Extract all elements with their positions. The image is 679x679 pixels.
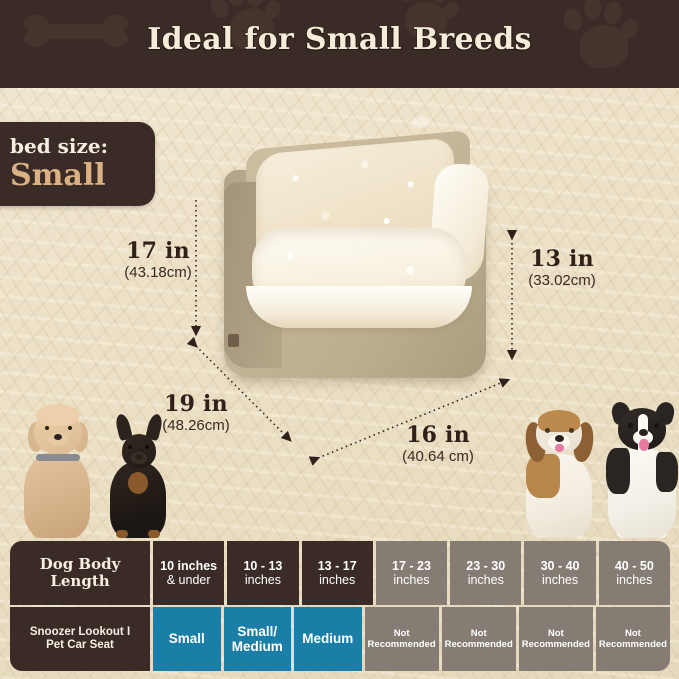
range-bold: 17 - 23: [392, 559, 431, 573]
dimension-height-front: 13 in (33.02cm): [512, 248, 612, 289]
range-rest: inches: [243, 573, 282, 587]
table-cell-recommendation-0: Small: [153, 607, 221, 671]
dimension-height-back: 17 in (43.18cm): [112, 240, 204, 281]
range-rest: inches: [392, 573, 431, 587]
dog-miniature-pinscher: [102, 414, 174, 538]
dimension-metric: (43.18cm): [112, 265, 204, 281]
range-rest: inches: [466, 573, 505, 587]
table-product-row: Snoozer Lookout I Pet Car Seat Small Sma…: [10, 607, 670, 671]
dog-border-collie: [600, 400, 679, 538]
table-header-cell-3: 17 - 23 inches: [376, 541, 447, 605]
table-cell-recommendation-1: Small/ Medium: [224, 607, 292, 671]
range-rest: inches: [541, 573, 580, 587]
table-header-cell-2: 13 - 17 inches: [302, 541, 373, 605]
recommendation-line2: Recommended: [522, 639, 590, 650]
recommendation-line1: Small/: [237, 624, 277, 639]
dimension-metric: (33.02cm): [512, 273, 612, 289]
table-cell-recommendation-5: Not Recommended: [519, 607, 593, 671]
recommendation-line2: Recommended: [445, 639, 513, 650]
range-bold: 10 - 13: [243, 559, 282, 573]
recommendation-line2: Medium: [232, 639, 283, 654]
dog-collar: [36, 454, 80, 461]
table-cell-recommendation-6: Not Recommended: [596, 607, 670, 671]
dog-beagle: [516, 404, 602, 538]
range-rest: inches: [318, 573, 357, 587]
recommendation-line1: Not: [394, 628, 410, 639]
bed-size-label: bed size:: [10, 134, 108, 158]
dog-poodle: [18, 404, 96, 538]
range-bold: 13 - 17: [318, 559, 357, 573]
recommendation-line2: Recommended: [368, 639, 436, 650]
range-rest: inches: [615, 573, 654, 587]
product-brand-tag: [228, 334, 239, 347]
range-bold: 23 - 30: [466, 559, 505, 573]
table-cell-recommendation-2: Medium: [294, 607, 362, 671]
table-header-cell-1: 10 - 13 inches: [227, 541, 298, 605]
range-bold: 10 inches: [160, 559, 217, 573]
dimension-value: 16 in: [378, 424, 498, 447]
size-comparison-table: Dog Body Length 10 inches & under 10 - 1…: [10, 541, 670, 671]
recommendation-line1: Not: [625, 628, 641, 639]
header-band: Ideal for Small Breeds: [0, 0, 679, 88]
table-row-label-product: Snoozer Lookout I Pet Car Seat: [10, 607, 150, 671]
recommendation-line2: Recommended: [599, 639, 667, 650]
table-header-cell-0: 10 inches & under: [153, 541, 224, 605]
infographic-page: Ideal for Small Breeds bed size: Small: [0, 0, 679, 679]
page-title: Ideal for Small Breeds: [0, 22, 679, 57]
recommendation-value: Medium: [302, 631, 353, 646]
table-header-row: Dog Body Length 10 inches & under 10 - 1…: [10, 541, 670, 605]
dog-body-length-line2: Length: [50, 572, 109, 590]
product-image: [206, 136, 506, 392]
recommendation-line1: Not: [548, 628, 564, 639]
bed-size-value: Small: [10, 158, 106, 193]
dog-photos-right: [508, 390, 676, 538]
table-cell-recommendation-3: Not Recommended: [365, 607, 439, 671]
range-rest: & under: [160, 573, 217, 587]
product-label-line2: Pet Car Seat: [46, 639, 114, 651]
table-header-cell-4: 23 - 30 inches: [450, 541, 521, 605]
dimension-metric: (40.64 cm): [378, 449, 498, 465]
dimension-depth: 16 in (40.64 cm): [378, 424, 498, 465]
table-row-header-dog-body-length: Dog Body Length: [10, 541, 150, 605]
dog-body-length-line1: Dog Body: [40, 555, 121, 573]
recommendation-line1: Not: [471, 628, 487, 639]
fleece-rim: [246, 286, 472, 328]
range-bold: 40 - 50: [615, 559, 654, 573]
range-bold: 30 - 40: [541, 559, 580, 573]
dimension-value: 17 in: [112, 240, 204, 263]
dimension-value: 13 in: [512, 248, 612, 271]
bed-size-badge: bed size: Small: [0, 122, 155, 206]
product-label-line1: Snoozer Lookout I: [30, 626, 130, 638]
table-header-cell-5: 30 - 40 inches: [524, 541, 595, 605]
table-header-cell-6: 40 - 50 inches: [599, 541, 670, 605]
recommendation-value: Small: [169, 631, 205, 646]
dog-photos-left: [6, 390, 166, 538]
table-cell-recommendation-4: Not Recommended: [442, 607, 516, 671]
